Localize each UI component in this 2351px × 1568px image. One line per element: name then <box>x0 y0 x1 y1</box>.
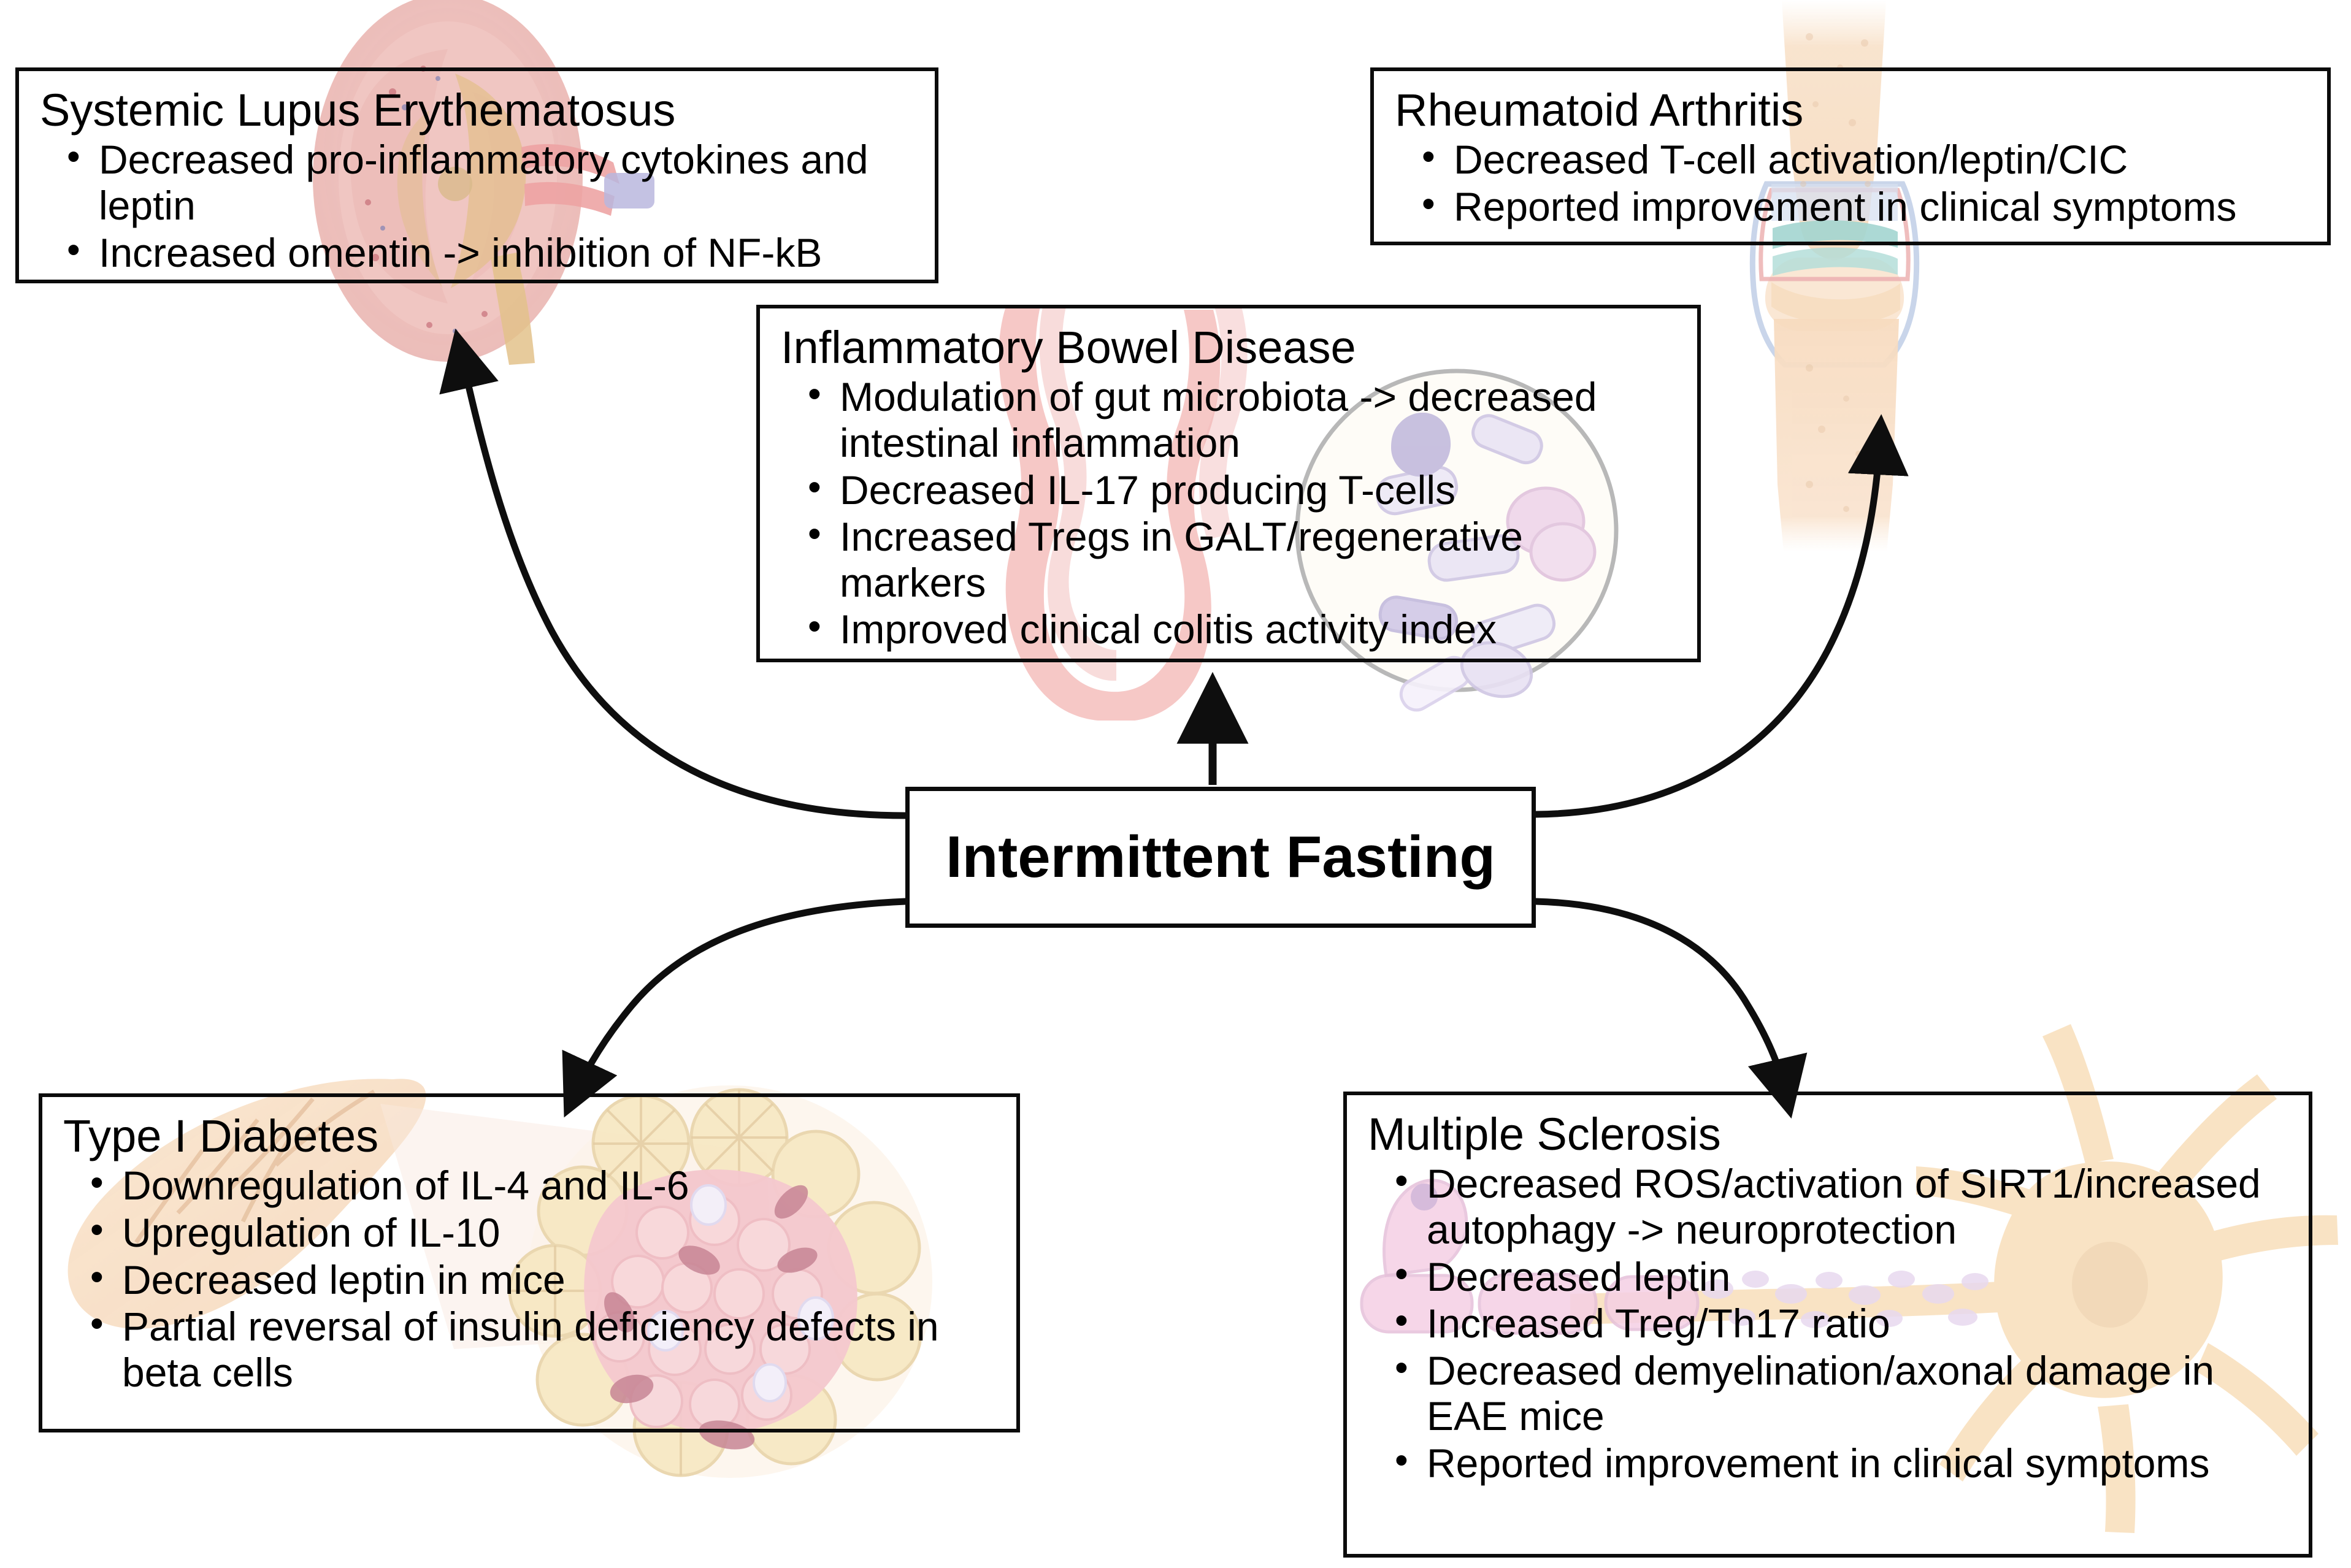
list-item: Decreased pro-inflammatory cytokines and… <box>99 137 914 228</box>
node-ra-bullet-list: Decreased T-cell activation/leptin/CIC R… <box>1395 137 2306 229</box>
list-item: Partial reversal of insulin deficiency d… <box>122 1304 995 1395</box>
list-item: Decreased ROS/activation of SIRT1/increa… <box>1427 1161 2288 1252</box>
list-item: Reported improvement in clinical symptom… <box>1454 184 2306 230</box>
list-item: Improved clinical colitis activity index <box>840 606 1676 652</box>
node-sle-content: Systemic Lupus Erythematosus Decreased p… <box>19 71 935 289</box>
node-ra-content: Rheumatoid Arthritis Decreased T-cell ac… <box>1374 71 2327 243</box>
node-type-i-diabetes[interactable]: Type I Diabetes Downregulation of IL-4 a… <box>39 1093 1020 1432</box>
list-item: Decreased leptin <box>1427 1254 2288 1300</box>
node-rheumatoid-arthritis[interactable]: Rheumatoid Arthritis Decreased T-cell ac… <box>1370 67 2331 245</box>
list-item: Decreased demyelination/axonal damage in… <box>1427 1348 2288 1439</box>
list-item: Upregulation of IL-10 <box>122 1210 995 1256</box>
list-item: Reported improvement in clinical symptom… <box>1427 1440 2288 1486</box>
list-item: Increased omentin -> inhibition of NF-kB <box>99 230 914 276</box>
node-sle-bullet-list: Decreased pro-inflammatory cytokines and… <box>40 137 914 275</box>
list-item: Modulation of gut microbiota -> decrease… <box>840 374 1676 465</box>
node-ibd-bullet-list: Modulation of gut microbiota -> decrease… <box>781 374 1676 652</box>
list-item: Decreased IL-17 producing T-cells <box>840 467 1676 513</box>
node-t1d-title: Type I Diabetes <box>63 1113 995 1159</box>
list-item: Increased Tregs in GALT/regenerative mar… <box>840 514 1676 605</box>
node-ms-title: Multiple Sclerosis <box>1368 1111 2288 1157</box>
arrow-center-to-t1d <box>570 901 905 1104</box>
center-node-label: Intermittent Fasting <box>946 824 1495 891</box>
node-ms-content: Multiple Sclerosis Decreased ROS/activat… <box>1347 1095 2309 1500</box>
list-item: Downregulation of IL-4 and IL-6 <box>122 1163 995 1209</box>
node-ra-title: Rheumatoid Arthritis <box>1395 87 2306 133</box>
diagram-canvas: Systemic Lupus Erythematosus Decreased p… <box>0 0 2351 1568</box>
node-intermittent-fasting[interactable]: Intermittent Fasting <box>905 787 1536 928</box>
node-ibd-title: Inflammatory Bowel Disease <box>781 324 1676 370</box>
node-systemic-lupus-erythematosus[interactable]: Systemic Lupus Erythematosus Decreased p… <box>15 67 938 283</box>
node-ms-bullet-list: Decreased ROS/activation of SIRT1/increa… <box>1368 1161 2288 1486</box>
node-t1d-content: Type I Diabetes Downregulation of IL-4 a… <box>42 1097 1016 1409</box>
list-item: Decreased T-cell activation/leptin/CIC <box>1454 137 2306 183</box>
arrow-center-to-ms <box>1536 901 1788 1104</box>
list-item: Increased Treg/Th17 ratio <box>1427 1301 2288 1347</box>
node-inflammatory-bowel-disease[interactable]: Inflammatory Bowel Disease Modulation of… <box>756 305 1701 662</box>
node-ibd-content: Inflammatory Bowel Disease Modulation of… <box>760 308 1697 666</box>
node-sle-title: Systemic Lupus Erythematosus <box>40 87 914 133</box>
node-t1d-bullet-list: Downregulation of IL-4 and IL-6 Upregula… <box>63 1163 995 1395</box>
list-item: Decreased leptin in mice <box>122 1257 995 1303</box>
node-multiple-sclerosis[interactable]: Multiple Sclerosis Decreased ROS/activat… <box>1343 1092 2312 1558</box>
